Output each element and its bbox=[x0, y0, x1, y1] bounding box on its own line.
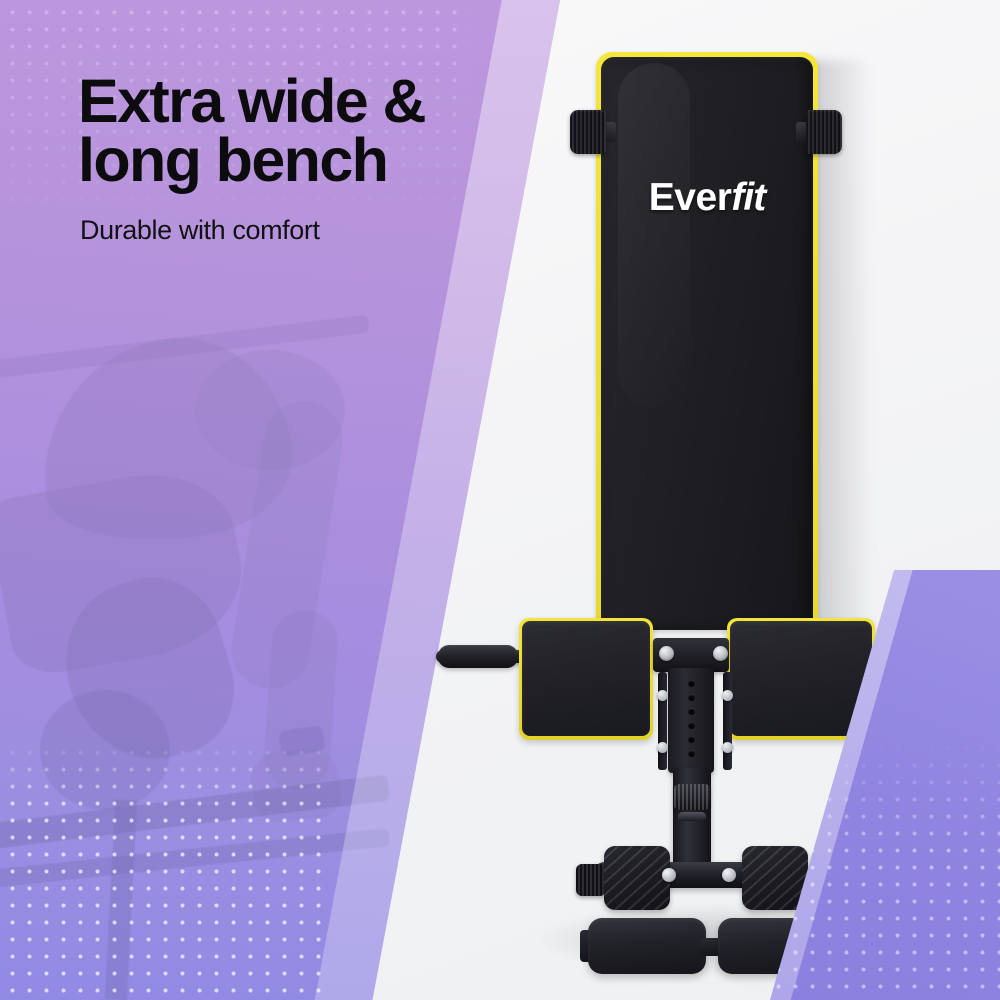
post-pin bbox=[657, 742, 668, 753]
foam-roller-left bbox=[588, 918, 706, 974]
post-hole bbox=[688, 722, 695, 729]
post-rail-right bbox=[723, 672, 732, 770]
adjustment-post bbox=[668, 668, 714, 773]
brand-logo-ever: Ever bbox=[649, 176, 732, 219]
backrest-pad bbox=[601, 57, 813, 630]
post-rail-left bbox=[658, 672, 667, 770]
handlebar-grip-left bbox=[438, 645, 518, 668]
height-adjust-collar bbox=[674, 784, 710, 810]
brand-logo-fit: fit bbox=[731, 176, 765, 219]
base-end-knob-left bbox=[576, 864, 606, 896]
post-hole bbox=[688, 736, 695, 743]
post-pin bbox=[722, 742, 733, 753]
post-hole bbox=[688, 680, 695, 687]
post-hole bbox=[688, 694, 695, 701]
post-hole bbox=[688, 750, 695, 757]
brand-logo: Everfit bbox=[617, 176, 797, 220]
thigh-pad-left-cushion bbox=[522, 621, 650, 736]
post-pin bbox=[657, 690, 668, 701]
foot-plate-right bbox=[742, 846, 808, 910]
thigh-pad-right-cushion bbox=[730, 621, 872, 736]
promo-banner: Extra wide & long bench Durable with com… bbox=[0, 0, 1000, 1000]
collar-slot bbox=[678, 812, 706, 821]
post-hole bbox=[688, 708, 695, 715]
backrest-piping bbox=[596, 52, 818, 630]
base-bolt-left bbox=[662, 868, 676, 882]
adjust-knob-right bbox=[806, 110, 842, 154]
adjust-knob-left bbox=[570, 110, 606, 154]
bracket-bolt-left bbox=[659, 646, 674, 661]
thigh-pad-left bbox=[519, 618, 653, 740]
backrest-highlight bbox=[618, 63, 690, 407]
base-bolt-right bbox=[722, 868, 736, 882]
post-pin bbox=[722, 690, 733, 701]
bracket-bolt-right bbox=[713, 646, 728, 661]
foot-plate-left bbox=[604, 846, 670, 910]
